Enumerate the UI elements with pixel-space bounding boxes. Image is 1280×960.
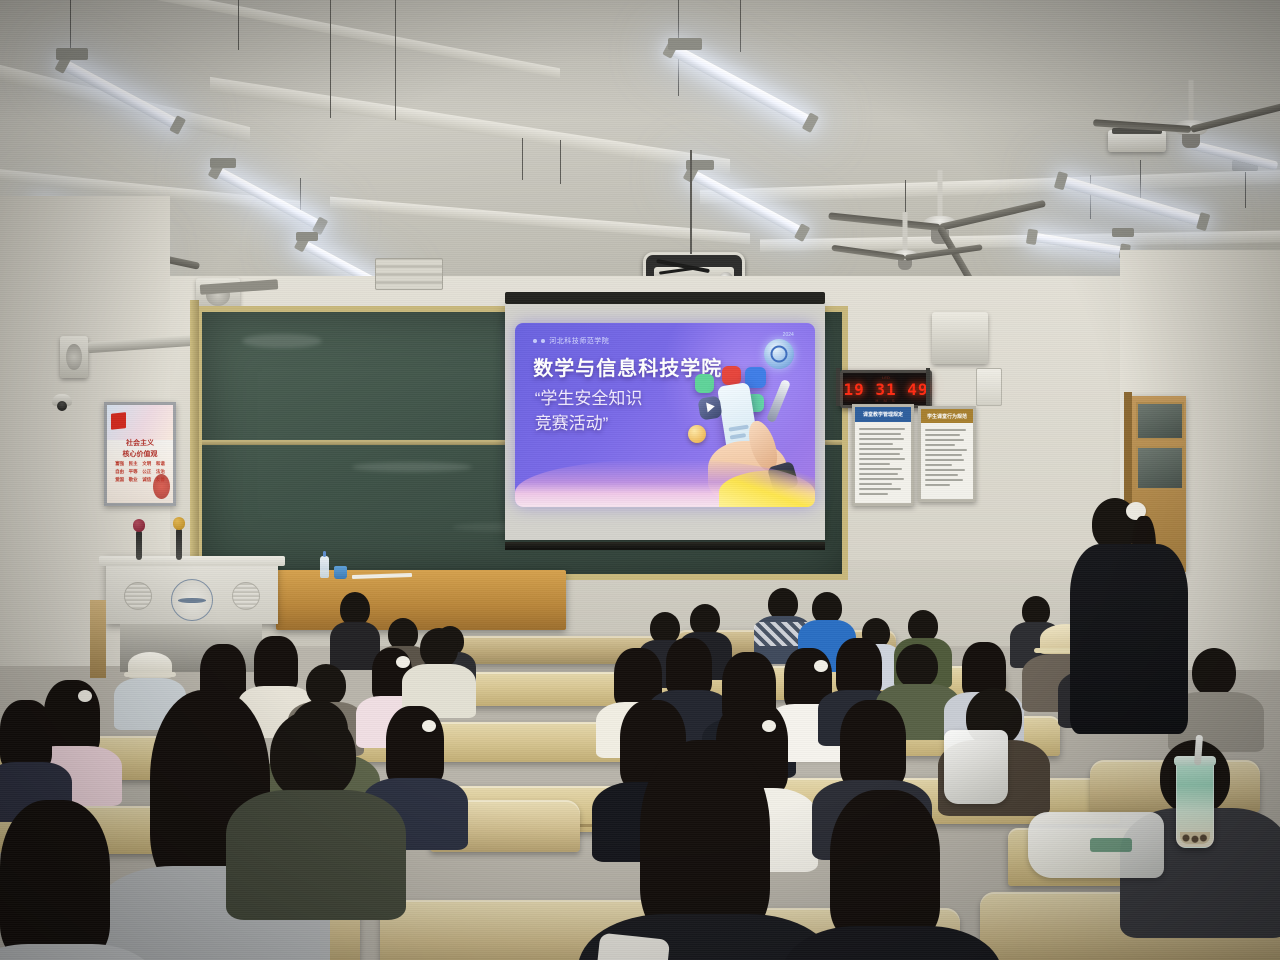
poster-line1: 社会主义 [107,438,173,448]
poster-value: 诚信 [141,477,153,483]
clock-brand-label: LED [843,375,929,380]
wall-speaker [932,312,988,364]
poster-value: 平等 [127,469,139,475]
digital-clock: LED 19 31 49 H M S [840,370,932,408]
screen-roller [505,292,825,304]
blue-cup [334,566,347,579]
patriotic-poster: 社会主义 核心价值观 富强 民主 文明 和谐 自由 平等 公正 法治 爱国 敬业… [104,402,176,506]
dome-camera [52,394,72,406]
poster-line2: 核心价值观 [107,449,173,459]
poster-value: 文明 [141,461,153,467]
play-button-icon [697,395,722,420]
notice-board-left-title: 课堂教学管理规定 [863,411,903,418]
water-bottle [320,556,329,578]
coin-icon [688,425,706,443]
poster-value: 民主 [127,461,139,467]
ceiling-fan [830,212,980,272]
app-icon-green [695,374,714,393]
slide-brand-row: 河北科技师范学院 [533,336,609,346]
flag-icon [111,412,126,429]
speaker-grille [232,582,260,610]
notice-board-left: 课堂教学管理规定 [852,404,914,506]
lecture-hall-photo: 河北科技师范学院 2024 数学与信息科技学院 “学生安全知识 竞赛活动” [0,0,1280,960]
university-emblem [171,579,213,621]
door-glass-panel [1136,402,1184,440]
ceiling-fan [1096,80,1280,150]
ceiling [0,0,1280,300]
poster-value: 和谐 [155,461,167,467]
projection-screen: 河北科技师范学院 2024 数学与信息科技学院 “学生安全知识 竞赛活动” [505,292,825,550]
poster-value: 公正 [141,469,153,475]
slide-subtitle-line2: 竞赛活动” [535,412,643,437]
presentation-slide: 河北科技师范学院 2024 数学与信息科技学院 “学生安全知识 竞赛活动” [515,323,815,507]
notice-board-right: 学生课堂行为规范 [918,406,976,502]
poster-value: 自由 [114,469,126,475]
tapioca-pearls [1180,832,1210,844]
bubble-tea-cup [1176,762,1214,848]
wall-panel [976,368,1002,406]
stylus-icon [766,379,791,423]
microphone [136,530,142,560]
bullet-dot-icon [533,339,537,343]
clock-unit-label: H M S [843,398,929,403]
slide-subtitle-line1: “学生安全知识 [535,387,643,412]
slide-subtitle: “学生安全知识 竞赛活动” [535,387,643,436]
screen-bottom-bar [505,542,825,550]
microphone [176,528,182,560]
podium-side-post [90,600,106,678]
screen-surface: 河北科技师范学院 2024 数学与信息科技学院 “学生安全知识 竞赛活动” [505,304,825,540]
bullet-dot-icon [541,339,545,343]
speaker-grille [124,582,152,610]
teacher-desk [276,570,566,630]
plastic-bag [944,730,1008,804]
wall-speaker [60,336,88,378]
poster-value: 敬业 [127,477,139,483]
lectern-podium [106,556,278,624]
clock-time: 19 31 49 [843,380,928,399]
slide-badge-label: 2024 [783,332,794,338]
notice-board-right-title: 学生课堂行为规范 [927,413,967,420]
poster-value: 富强 [114,461,126,467]
slide-brand-text: 河北科技师范学院 [549,336,609,346]
ceiling-vent-panel [375,258,443,290]
door-glass-panel [1136,446,1184,490]
app-icon-red [722,366,741,385]
poster-value: 爱国 [114,477,126,483]
